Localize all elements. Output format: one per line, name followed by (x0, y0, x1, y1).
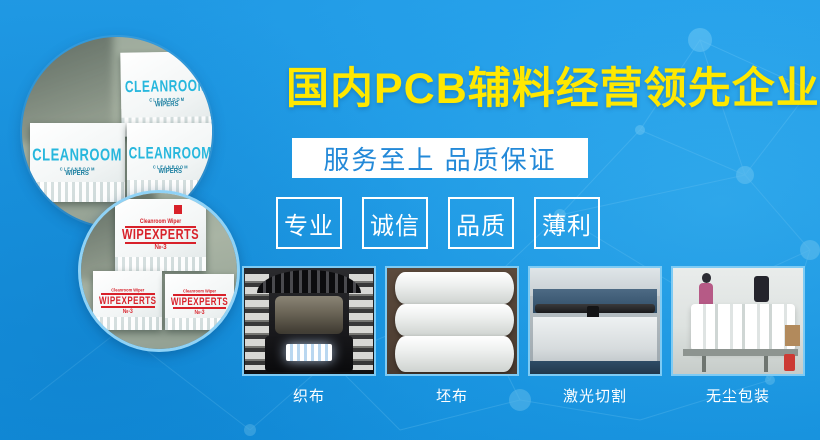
feature-tag-list: 专业 诚信 品质 薄利 (276, 197, 600, 249)
pack-ridges (93, 317, 162, 330)
pack-line2-label: Cleanroom Wiper (140, 219, 181, 226)
fabric-rolls-illustration (387, 268, 517, 374)
fabric-roll (395, 272, 515, 304)
fabric-roll (395, 336, 515, 372)
red-bin (784, 354, 796, 371)
process-caption: 织布 (293, 385, 325, 406)
pack-line3-label: №-3 (123, 308, 133, 315)
pack-line3-label: WIPERS (158, 168, 182, 175)
subtitle-band: 服务至上 品质保证 (292, 138, 588, 178)
cleanroom-packing-photo (671, 266, 805, 376)
pack-brand-label: WIPEXPERTS (99, 294, 156, 306)
cleanroom-packing-illustration (673, 268, 803, 374)
machine-cylinder (275, 296, 343, 334)
wipexperts-pack: Cleanroom Wiper WIPEXPERTS №-3 (165, 274, 234, 330)
process-caption: 坯布 (436, 385, 468, 406)
machine-crown (257, 270, 361, 293)
knitting-machine-illustration (244, 268, 374, 374)
wipexperts-pack: Cleanroom Wiper WIPEXPERTS №-3 (93, 271, 162, 330)
process-item-weaving[interactable]: 织布 (242, 266, 376, 406)
process-item-cleanroom-packing[interactable]: 无尘包装 (671, 266, 805, 406)
process-caption: 无尘包装 (706, 385, 770, 406)
feature-tag-low-margin[interactable]: 薄利 (534, 197, 600, 249)
feature-tag-label: 薄利 (542, 206, 592, 241)
feature-tag-label: 诚信 (370, 206, 420, 241)
pack-brand-label: WIPEXPERTS (122, 227, 199, 243)
process-item-grey-fabric[interactable]: 坯布 (385, 266, 519, 406)
pack-brand-label: WIPEXPERTS (171, 296, 228, 308)
promo-banner: CLEANROOM C L E A N R O O M WIPERS CLEAN… (0, 0, 820, 440)
pack-brand-label: CLEANROOM (32, 145, 122, 165)
feature-tag-integrity[interactable]: 诚信 (362, 197, 428, 249)
pack-line3-label: WIPERS (65, 171, 89, 178)
laser-cutter-illustration (530, 268, 660, 374)
table-leg (702, 356, 706, 372)
pack-brand-label: CLEANROOM (129, 144, 212, 163)
banner-subtitle: 服务至上 品质保证 (323, 140, 556, 177)
process-caption: 激光切割 (563, 385, 627, 406)
laser-apron (530, 361, 660, 374)
fabric-bundles (691, 304, 795, 351)
pack-line3-label: №-3 (155, 245, 167, 252)
laser-cutting-photo (528, 266, 662, 376)
feature-tag-professional[interactable]: 专业 (276, 197, 342, 249)
fabric-rolls-photo (385, 266, 519, 376)
laser-bed-fabric (533, 317, 658, 364)
feature-tag-label: 品质 (456, 206, 506, 241)
carton-box (785, 325, 801, 346)
feature-tag-quality[interactable]: 品质 (448, 197, 514, 249)
process-photo-strip: 织布 坯布 (242, 266, 808, 406)
packing-table (683, 349, 797, 356)
process-item-laser-cutting[interactable]: 激光切割 (528, 266, 662, 406)
feature-tag-label: 专业 (284, 206, 334, 241)
table-leg (764, 356, 768, 372)
knitting-machine-photo (242, 266, 376, 376)
machine-light (286, 344, 333, 361)
banner-headline: 国内PCB辅料经营领先企业 (286, 68, 820, 111)
pack-line2-label: Cleanroom Wiper (183, 288, 216, 294)
pack-ridges (115, 257, 205, 271)
wipes-pack: CLEANROOM C L E A N R O O M WIPERS (127, 123, 213, 199)
wipexperts-pack: Cleanroom Wiper WIPEXPERTS №-3 (115, 199, 205, 271)
pack-ridges (165, 318, 234, 330)
pack-line3-label: №-3 (195, 310, 205, 317)
fabric-roll (395, 304, 515, 336)
pack-brand-label: CLEANROOM (125, 76, 208, 96)
product-photo-wipexperts: Cleanroom Wiper WIPEXPERTS №-3 Cleanroom… (78, 190, 240, 352)
wipes-pack: CLEANROOM C L E A N R O O M WIPERS (30, 123, 125, 203)
pack-line2-label: Cleanroom Wiper (111, 286, 144, 292)
red-stamp-icon (174, 205, 182, 214)
pack-line3-label: WIPERS (155, 102, 179, 110)
worker-figure (754, 276, 770, 301)
